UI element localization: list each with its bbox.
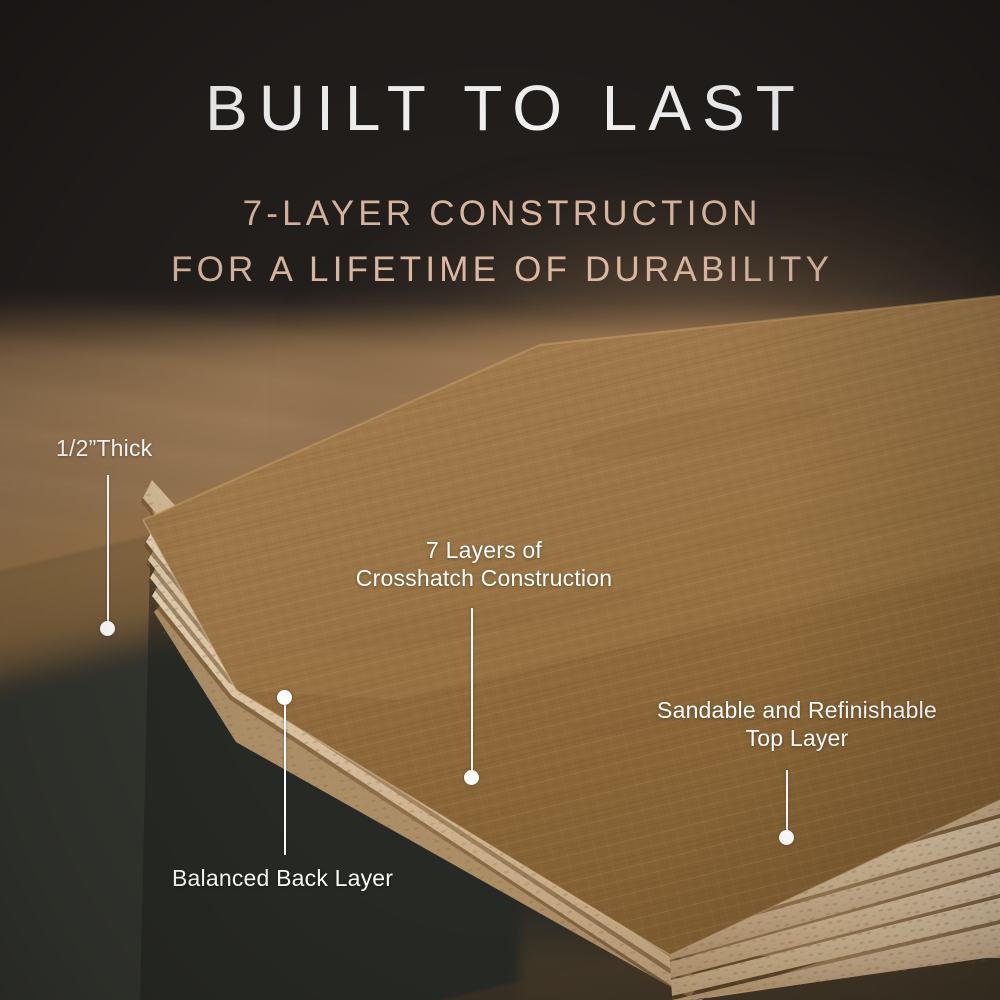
product-infographic: BUILT TO LAST 7-LAYER CONSTRUCTION FOR A… <box>0 0 1000 1000</box>
vignette-overlay <box>0 0 1000 1000</box>
